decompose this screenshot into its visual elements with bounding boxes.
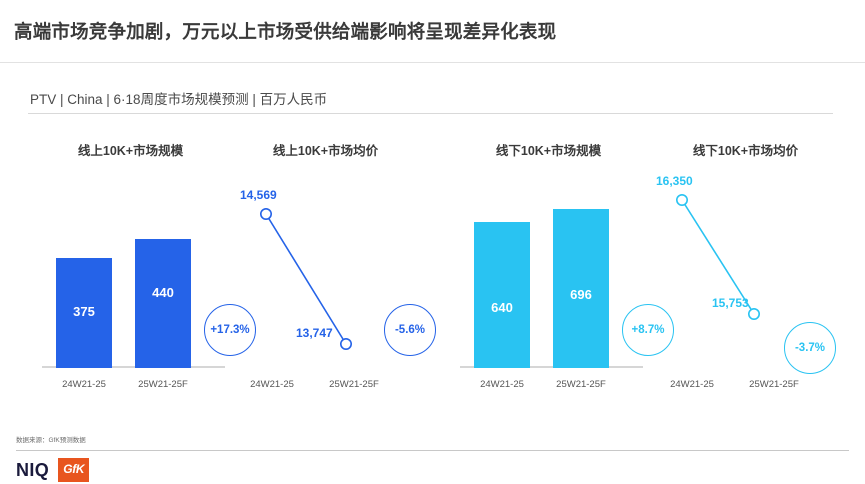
source-note: 数据来源：GfK预测数据 (16, 434, 86, 444)
x-tick-25w21-25f: 25W21-25F (545, 379, 617, 390)
data-point-25w21-25f[interactable] (749, 309, 759, 319)
point-value-24w21-25: 16,350 (656, 174, 693, 188)
line-chart-online-price: 14,569 13,747 24W21-25 25W21-25F -5.6% (218, 176, 433, 394)
niq-logo: NIQ (16, 461, 49, 479)
panel-heading-online-price: 线上10K+市场均价 (218, 140, 433, 159)
panel-heading-offline-price: 线下10K+市场均价 (638, 140, 853, 159)
line-chart-svg (218, 176, 433, 394)
bar-value-25w21-25f: 696 (553, 287, 609, 302)
subtitle-divider (28, 113, 833, 114)
data-point-24w21-25[interactable] (261, 209, 271, 219)
x-tick-24w21-25: 24W21-25 (466, 379, 538, 390)
x-tick-25w21-25f: 25W21-25F (738, 379, 810, 390)
bar-value-24w21-25: 640 (474, 300, 530, 315)
line-chart-offline-price: 16,350 15,753 24W21-25 25W21-25F -3.7% (638, 176, 853, 394)
footer-logos: NIQ GfK (16, 458, 89, 482)
bar-value-24w21-25: 375 (56, 304, 112, 319)
point-value-25w21-25f: 15,753 (712, 296, 749, 310)
point-value-25w21-25f: 13,747 (296, 326, 333, 340)
status-badge-online-price-delta: -5.6% (384, 304, 436, 356)
footer-divider (16, 450, 849, 451)
bar-chart-online-size: 375 440 24W21-25 25W21-25F +17.3% (28, 176, 233, 394)
title-divider (0, 62, 865, 63)
data-point-24w21-25[interactable] (677, 195, 687, 205)
panel-heading-offline-size: 线下10K+市场规模 (446, 140, 651, 159)
x-tick-24w21-25: 24W21-25 (236, 379, 308, 390)
gfk-logo: GfK (58, 458, 89, 482)
chart-subtitle: PTV | China | 6·18周度市场规模预测 | 百万人民币 (30, 88, 327, 108)
bar-25w21-25f[interactable]: 440 (135, 239, 191, 368)
bar-24w21-25[interactable]: 640 (474, 222, 530, 368)
x-tick-24w21-25: 24W21-25 (48, 379, 120, 390)
x-tick-25w21-25f: 25W21-25F (127, 379, 199, 390)
bar-chart-offline-size: 640 696 24W21-25 25W21-25F +8.7% (446, 176, 651, 394)
bar-value-25w21-25f: 440 (135, 285, 191, 300)
data-point-25w21-25f[interactable] (341, 339, 351, 349)
bar-25w21-25f[interactable]: 696 (553, 209, 609, 368)
panel-offline-market-size: 线下10K+市场规模 640 696 24W21-25 25W21-25F +8… (446, 130, 651, 420)
page-title: 高端市场竞争加剧，万元以上市场受供给端影响将呈现差异化表现 (14, 18, 556, 44)
bar-24w21-25[interactable]: 375 (56, 258, 112, 368)
panel-heading-online-size: 线上10K+市场规模 (28, 140, 233, 159)
x-tick-25w21-25f: 25W21-25F (318, 379, 390, 390)
trend-line (266, 214, 346, 344)
x-tick-24w21-25: 24W21-25 (656, 379, 728, 390)
status-badge-offline-price-delta: -3.7% (784, 322, 836, 374)
panel-online-avg-price: 线上10K+市场均价 14,569 13,747 24W21-25 25W21-… (218, 130, 433, 420)
point-value-24w21-25: 14,569 (240, 188, 277, 202)
panel-offline-avg-price: 线下10K+市场均价 16,350 15,753 24W21-25 25W21-… (638, 130, 853, 420)
panel-online-market-size: 线上10K+市场规模 375 440 24W21-25 25W21-25F +1… (28, 130, 233, 420)
